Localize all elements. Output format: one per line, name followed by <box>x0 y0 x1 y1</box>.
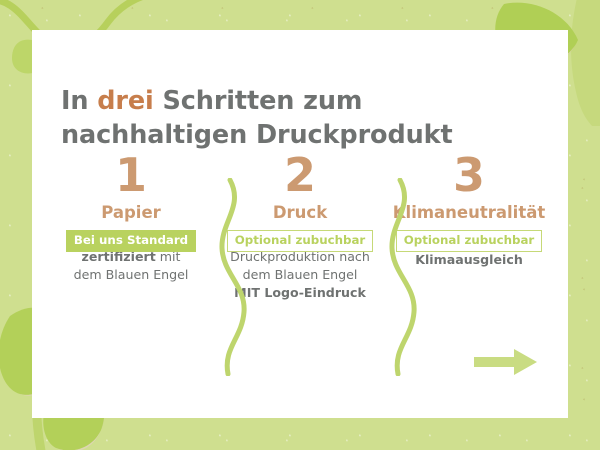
step2-body-bold-4: MIT Logo-Eindruck <box>234 285 366 300</box>
step1-body-line-3: dem Blauen Engel <box>74 267 189 282</box>
infographic-poster: In drei Schritten zum nachhaltigen Druck… <box>0 0 600 450</box>
heading-line1-before: In <box>61 86 97 116</box>
step-number-1: 1 <box>50 152 212 198</box>
status-badge-step-1[interactable]: Bei uns Standard <box>66 230 196 252</box>
forward-arrow-icon[interactable] <box>474 348 538 376</box>
badge-slot-1: Bei uns Standard <box>50 229 212 252</box>
heading-line1-after: Schritten zum <box>154 86 363 116</box>
steps-row: 1 Papier 100 % Recycling, zertifiziert m… <box>50 152 550 301</box>
step-column-1: 1 Papier 100 % Recycling, zertifiziert m… <box>50 152 212 284</box>
squiggle-divider-2-icon <box>387 178 421 376</box>
badges-row: Bei uns Standard Optional zubuchbar Opti… <box>50 229 550 252</box>
heading-accent-word: drei <box>97 86 153 116</box>
content-card: In drei Schritten zum nachhaltigen Druck… <box>32 30 568 418</box>
step-title-1: Papier <box>50 204 212 223</box>
heading-line2: nachhaltigen Druckprodukt <box>61 120 453 150</box>
step2-body-line-3: dem Blauen Engel <box>243 267 358 282</box>
step3-body-bold-2: Klimaausgleich <box>415 252 523 267</box>
squiggle-divider-1-icon <box>217 178 251 376</box>
page-title: In drei Schritten zum nachhaltigen Druck… <box>61 85 531 152</box>
